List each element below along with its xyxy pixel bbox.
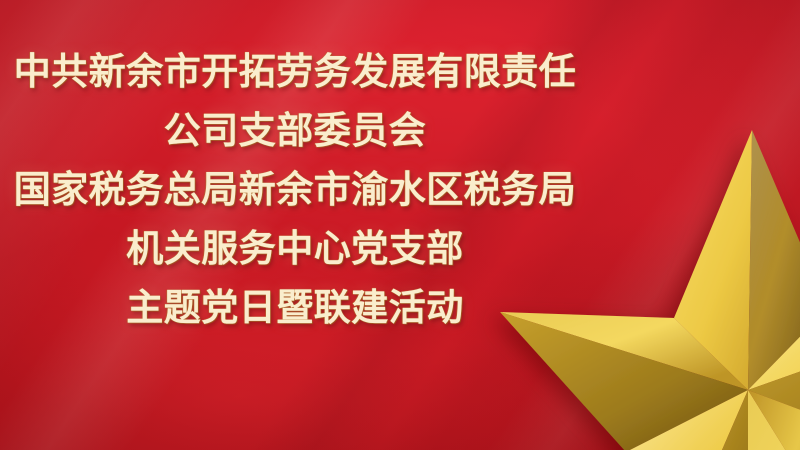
headline-line-2: 公司支部委员会 xyxy=(10,101,580,160)
headline-line-4: 机关服务中心党支部 xyxy=(10,219,580,278)
headline-line-1: 中共新余市开拓劳务发展有限责任 xyxy=(10,42,580,101)
headline-block: 中共新余市开拓劳务发展有限责任 公司支部委员会 国家税务总局新余市渝水区税务局 … xyxy=(10,42,580,337)
headline-line-5: 主题党日暨联建活动 xyxy=(10,278,580,337)
banner-canvas: 中共新余市开拓劳务发展有限责任 公司支部委员会 国家税务总局新余市渝水区税务局 … xyxy=(0,0,800,450)
headline-line-3: 国家税务总局新余市渝水区税务局 xyxy=(10,160,580,219)
